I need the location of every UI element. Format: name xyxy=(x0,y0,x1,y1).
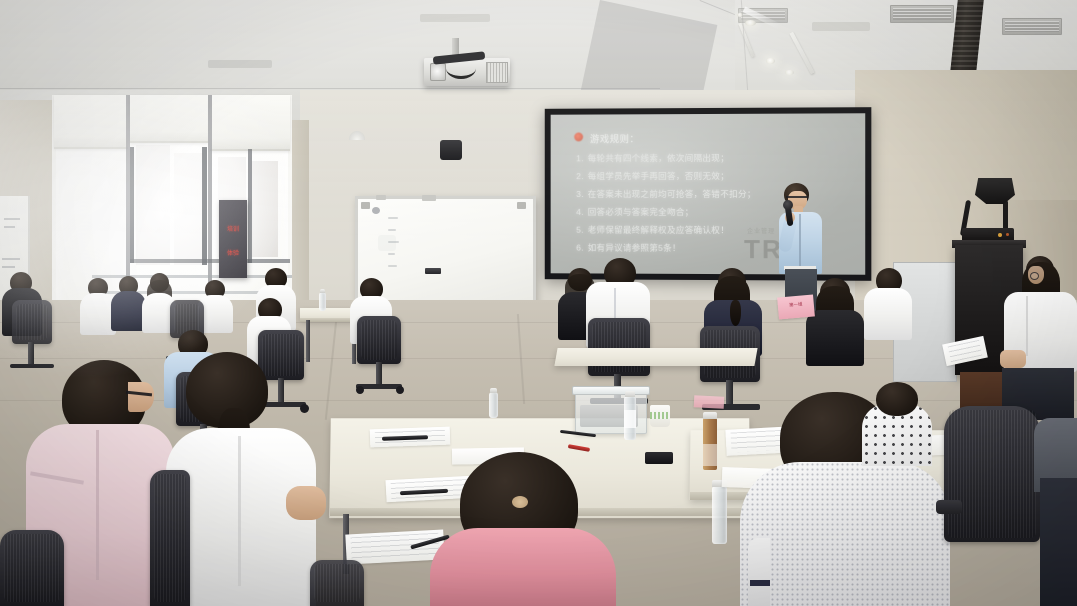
clear-storage-box xyxy=(575,390,647,434)
window-frame xyxy=(130,259,290,263)
window-frame xyxy=(130,147,134,263)
slide-bullet-row: 6.如有异议请参照第5条！ xyxy=(576,242,681,254)
shirt-sleeve xyxy=(748,538,770,606)
chair-base xyxy=(10,364,54,368)
poster-line-2: 体验 xyxy=(219,248,247,257)
projector-vent xyxy=(486,62,508,83)
whiteboard-marking xyxy=(388,217,398,219)
ceiling-spotlight xyxy=(785,70,794,75)
office-chair-back[interactable] xyxy=(588,318,650,376)
floor-seam xyxy=(325,320,337,420)
paper-text-lines xyxy=(948,340,983,362)
slide-bullet-text: 在答案未出现之前均可抢答，答错不扣分； xyxy=(588,189,756,199)
smartphone[interactable] xyxy=(645,452,673,464)
bottle-label xyxy=(624,410,636,428)
window-frame xyxy=(248,149,252,263)
window-blind xyxy=(130,95,208,143)
water-bottle xyxy=(712,486,727,544)
ceiling-recessed-panel xyxy=(208,60,272,68)
wall-speaker xyxy=(440,140,462,160)
attendee-body xyxy=(864,288,912,340)
storage-box-lid xyxy=(572,386,650,395)
chair-wheel xyxy=(300,404,309,413)
air-vent xyxy=(1002,18,1062,35)
whiteboard-marking xyxy=(388,229,396,231)
slide-bullet-number: 2. xyxy=(576,171,584,181)
window-blind xyxy=(54,95,128,149)
office-chair-back[interactable] xyxy=(944,406,1040,542)
floor-seam xyxy=(517,314,525,404)
shirt-placket xyxy=(799,214,801,272)
slide-bullet-number: 3. xyxy=(576,189,584,199)
whiteboard-clip xyxy=(422,195,436,201)
window-frame xyxy=(202,147,207,265)
slide-watermark-logo: TR xyxy=(744,234,783,265)
whiteboard-magnet xyxy=(372,207,380,214)
attendee-body xyxy=(111,291,146,331)
water-bottle xyxy=(319,292,326,311)
ceiling-recessed-panel xyxy=(420,14,490,22)
slide-bullet-row: 2.每组学员先举手再回答，否则无效； xyxy=(576,170,729,182)
projection-screen: 游戏规则： 1.每轮共有四个线索，依次间隔出现； 2.每组学员先举手再回答，否则… xyxy=(545,107,872,281)
ceiling-dome-fixture xyxy=(349,131,365,140)
hair-tie xyxy=(512,496,528,508)
whiteboard-eraser xyxy=(425,268,441,274)
microphone-head xyxy=(783,200,793,210)
status-led xyxy=(1006,233,1009,236)
group-name-card: 第一组 xyxy=(777,294,815,319)
slide-bullet-number: 1. xyxy=(576,153,584,163)
slide-bullet-number: 6. xyxy=(576,243,584,253)
whiteboard-marking xyxy=(4,226,15,228)
poster-line-1: 培训 xyxy=(219,224,247,233)
slide-bullet-text: 回答必须与答案完全吻合； xyxy=(588,207,694,217)
office-chair-back[interactable] xyxy=(357,316,401,364)
sleeve-cuff xyxy=(750,580,770,586)
handout-paper xyxy=(345,529,444,564)
slide-bullet-number: 5. xyxy=(576,225,584,235)
slide-bullet-text: 老师保留最终解释权及应答确认权！ xyxy=(588,225,729,235)
bottle-cap xyxy=(320,289,325,293)
slide-bullet-number: 4. xyxy=(576,207,584,217)
whiteboard-corner-bracket xyxy=(361,202,370,209)
group-name-card xyxy=(694,395,725,409)
slide-bullet-row: 5.老师保留最终解释权及应答确认权！ xyxy=(576,224,729,236)
whiteboard-clip xyxy=(376,195,386,200)
whiteboard-corner-bracket xyxy=(517,202,526,209)
whiteboard-smudge xyxy=(378,235,396,251)
whiteboard-marking xyxy=(4,218,20,220)
paper-cup-pattern xyxy=(650,412,670,419)
mobile-whiteboard xyxy=(355,196,536,312)
ceiling-spotlight xyxy=(766,58,775,64)
paper-text-lines xyxy=(350,533,439,562)
slide-bullet-text: 每轮共有四个线索，依次间隔出现； xyxy=(588,153,729,163)
shirt-seam xyxy=(96,430,99,580)
table-leg xyxy=(306,320,310,362)
whiteboard-marking xyxy=(388,253,395,255)
projector-cable xyxy=(446,58,476,79)
slide-bullet-row: 4.回答必须与答案完全吻合； xyxy=(576,206,693,218)
wall-poster: 培训 体验 xyxy=(219,200,247,278)
ceiling-seam xyxy=(0,88,660,89)
office-chair-back[interactable] xyxy=(150,470,190,606)
whiteboard-marking xyxy=(2,258,20,260)
air-vent xyxy=(890,5,954,23)
slide-bullet-dot-icon xyxy=(574,132,583,141)
attendee-hand xyxy=(1000,350,1026,368)
chair-armrest[interactable] xyxy=(936,500,962,514)
bottle-cap xyxy=(490,388,497,393)
group-card-text: 第一组 xyxy=(778,300,814,310)
bottle-cap xyxy=(625,391,635,397)
foreground-attendee-body xyxy=(430,528,616,606)
chair-wheel xyxy=(396,386,404,394)
foreground-attendee-body xyxy=(740,462,950,606)
slide-bullet-row: 3.在答案未出现之前均可抢答，答错不扣分； xyxy=(576,188,756,200)
shirt-seam xyxy=(238,436,241,586)
whiteboard-marking xyxy=(2,266,15,268)
classroom-photo-scene: 培训 体验 游戏规则： 1.每轮共有四个线索，依次间隔出现； 2.每组学员先举手… xyxy=(0,0,1077,606)
water-bottle xyxy=(489,392,498,418)
ceiling-spotlight xyxy=(745,20,756,26)
slide-title: 游戏规则： xyxy=(590,131,639,145)
office-chair-back[interactable] xyxy=(12,300,52,344)
ponytail xyxy=(730,300,741,326)
slide-bullet-text: 如有异议请参照第5条！ xyxy=(588,243,681,253)
foreground-attendee-hand xyxy=(286,486,326,520)
glasses-icon xyxy=(1030,272,1039,280)
table xyxy=(554,348,757,366)
foreground-attendee-face xyxy=(128,382,154,412)
shirt-seam xyxy=(1026,296,1028,356)
window-blind xyxy=(210,95,290,151)
slide-bullet-row: 1.每轮共有四个线索，依次间隔出现； xyxy=(576,152,729,164)
attendee-body xyxy=(806,310,864,366)
whiteboard-marking xyxy=(388,265,397,267)
projector-lens xyxy=(430,63,446,81)
glasses-icon xyxy=(786,196,808,198)
office-chair-back[interactable] xyxy=(310,560,364,606)
attendee-body xyxy=(1040,478,1077,606)
status-led xyxy=(998,233,1002,237)
attendee-head xyxy=(876,382,918,416)
office-chair-back[interactable] xyxy=(0,530,64,606)
office-chair-back[interactable] xyxy=(258,330,304,380)
bottle-cap xyxy=(703,412,717,419)
slide-bullet-text: 每组学员先举手再回答，否则无效； xyxy=(588,171,729,181)
ceiling-recessed-panel xyxy=(812,22,870,31)
bottle-label xyxy=(703,444,717,466)
chair-wheel xyxy=(356,386,364,394)
